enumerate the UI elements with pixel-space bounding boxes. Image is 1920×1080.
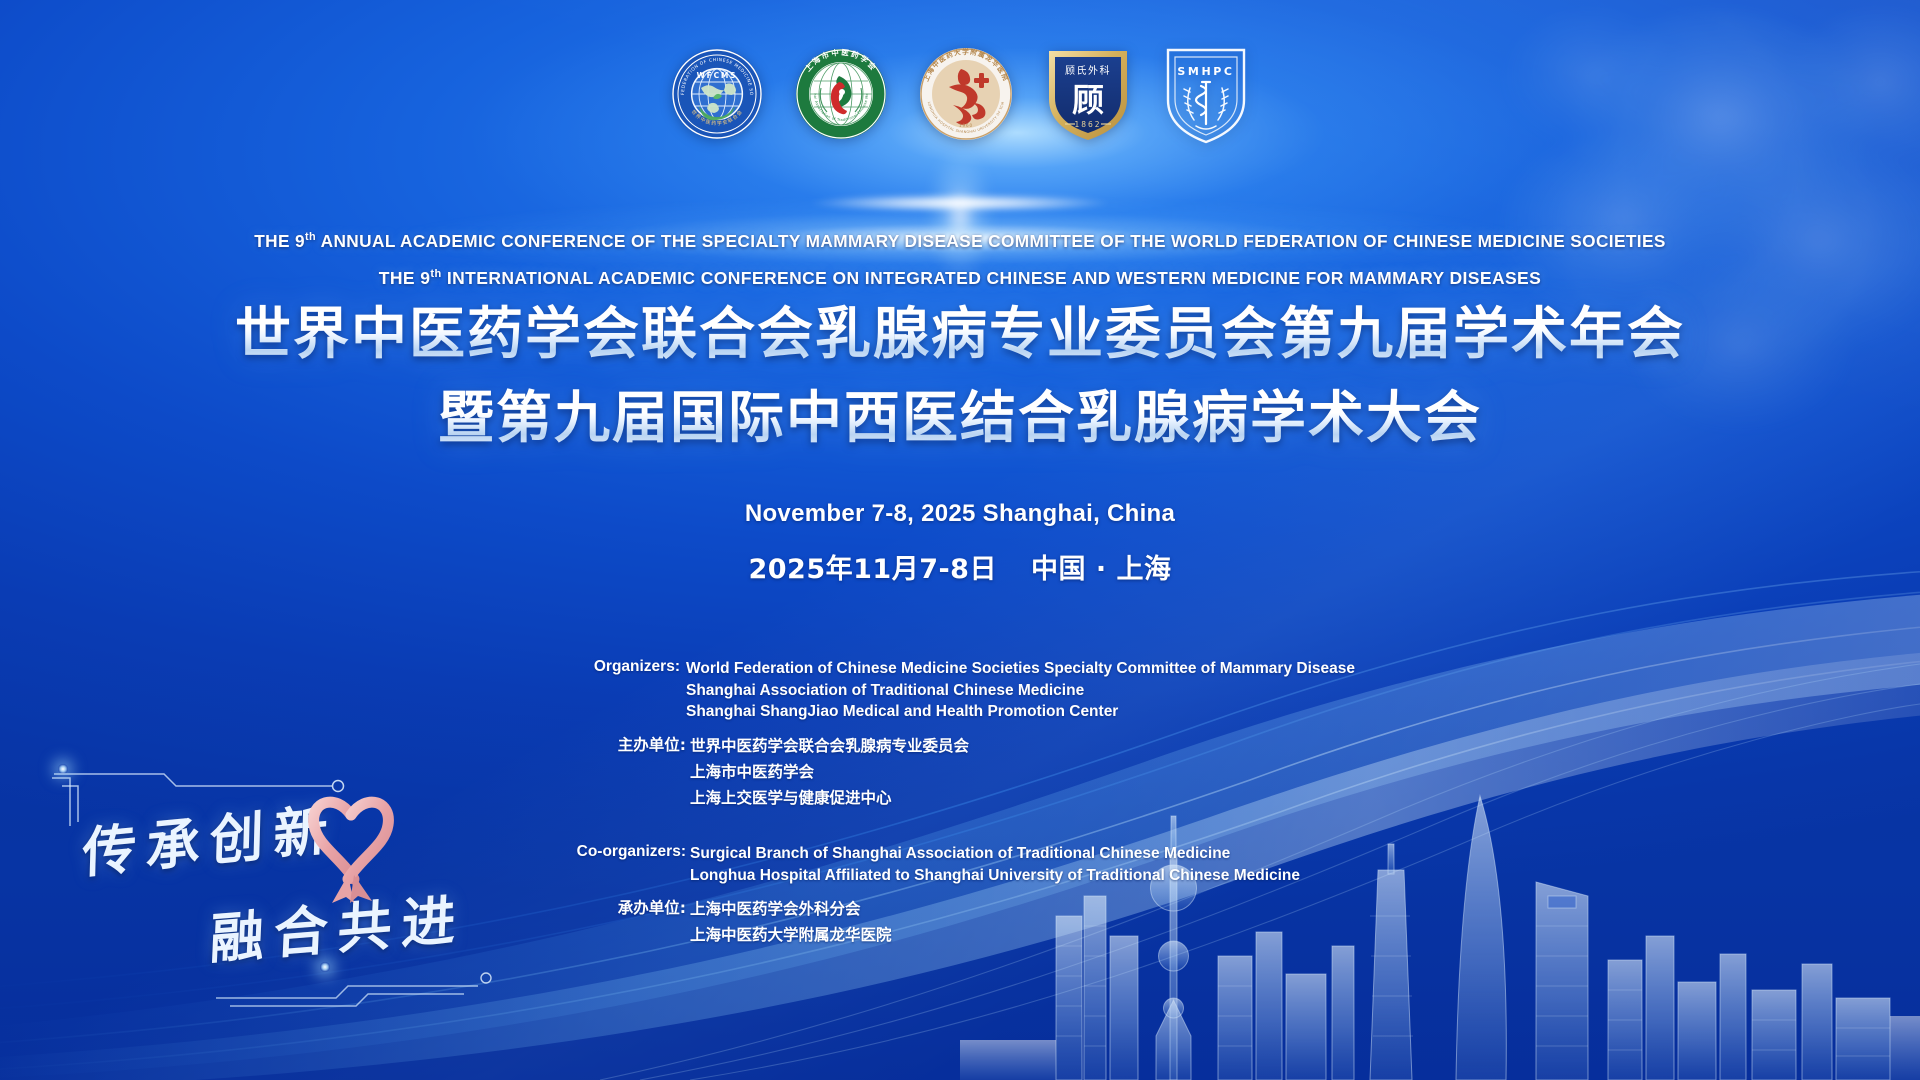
chinese-title-line-1: 世界中医药学会联合会乳腺病专业委员会第九届学术年会 [0,296,1920,374]
organizers-values-cn: 世界中医药学会联合会乳腺病专业委员会 上海市中医药学会 上海上交医学与健康促进中… [690,733,969,811]
date-chinese-value: 2025年11月7-8日 [748,554,997,585]
line2-post: INTERNATIONAL ACADEMIC CONFERENCE ON INT… [442,268,1542,288]
line1-ordinal: th [305,231,316,243]
organizer-en-1: World Federation of Chinese Medicine Soc… [686,658,1355,680]
line2-ordinal: th [430,268,441,280]
longhua-hospital-logo: 上海中医药大学附属龙华医院 LONGHUA HOSPITAL SHANGHAI … [919,47,1013,141]
wfcms-logo: WORLD FEDERATION OF CHINESE MEDICINE SOC… [671,48,763,140]
organizers-values-en: World Federation of Chinese Medicine Soc… [686,658,1355,723]
shanghai-tcm-association-logo: 上海市中医药学会 Shanghai Association of Traditi… [795,48,887,140]
organizer-en-2: Shanghai Association of Traditional Chin… [686,680,1355,702]
svg-text:SMHPC: SMHPC [1177,65,1234,78]
co-organizer-cn-1: 上海中医药学会外科分会 [690,896,892,922]
line1-post: ANNUAL ACADEMIC CONFERENCE OF THE SPECIA… [316,231,1666,251]
date-english: November 7-8, 2025 Shanghai, China [0,500,1920,528]
light-spark-top [58,764,68,774]
chinese-title-line-2: 暨第九届国际中西医结合乳腺病学术大会 [0,380,1920,458]
organizers-label-en: Organizers: [480,658,680,676]
date-chinese: 2025年11月7-8日中国 · 上海 [0,547,1920,586]
co-organizer-en-1: Surgical Branch of Shanghai Association … [690,843,1300,865]
organizer-cn-2: 上海市中医药学会 [690,759,969,785]
svg-text:WFCMS: WFCMS [697,71,738,80]
chinese-title-block: 世界中医药学会联合会乳腺病专业委员会第九届学术年会 暨第九届国际中西医结合乳腺病… [0,296,1920,458]
english-headline-line-2: THE 9th INTERNATIONAL ACADEMIC CONFERENC… [0,261,1920,291]
co-organizer-en-2: Longhua Hospital Affiliated to Shanghai … [690,865,1300,887]
gu-shi-wai-ke-logo: 顾氏外科 顾 1862 [1045,45,1131,143]
logo-row: WORLD FEDERATION OF CHINESE MEDICINE SOC… [0,42,1920,146]
organizers-label-cn: 主办单位: [486,733,686,755]
smhpc-logo: SMHPC [1163,42,1249,146]
pink-awareness-ribbon-heart-icon [288,779,416,907]
english-headline-block: THE 9th ANNUAL ACADEMIC CONFERENCE OF TH… [0,224,1920,291]
svg-text:顾氏外科: 顾氏外科 [1065,64,1111,77]
place-chinese-value: 中国 · 上海 [1031,554,1172,585]
co-organizer-cn-2: 上海中医药大学附属龙华医院 [690,922,892,948]
co-organizers-values-en: Surgical Branch of Shanghai Association … [690,843,1300,886]
slogan-block: 传承创新 融合共进 [60,775,530,985]
co-organizers-values-cn: 上海中医药学会外科分会 上海中医药大学附属龙华医院 [690,896,892,948]
svg-text:顾: 顾 [1072,81,1104,119]
english-headline-line-1: THE 9th ANNUAL ACADEMIC CONFERENCE OF TH… [14,224,1905,254]
line1-pre: THE 9 [254,231,305,251]
svg-text:1862: 1862 [1074,120,1101,129]
banner-stage: WORLD FEDERATION OF CHINESE MEDICINE SOC… [0,0,1920,1080]
organizer-cn-1: 世界中医药学会联合会乳腺病专业委员会 [690,733,969,759]
organizer-en-3: Shanghai ShangJiao Medical and Health Pr… [686,701,1355,723]
date-block: November 7-8, 2025 Shanghai, China 2025年… [0,500,1920,586]
organizer-cn-3: 上海上交医学与健康促进中心 [690,785,969,811]
line2-pre: THE 9 [379,268,431,288]
center-flare-core [750,190,1170,216]
svg-text:1960: 1960 [959,123,973,128]
